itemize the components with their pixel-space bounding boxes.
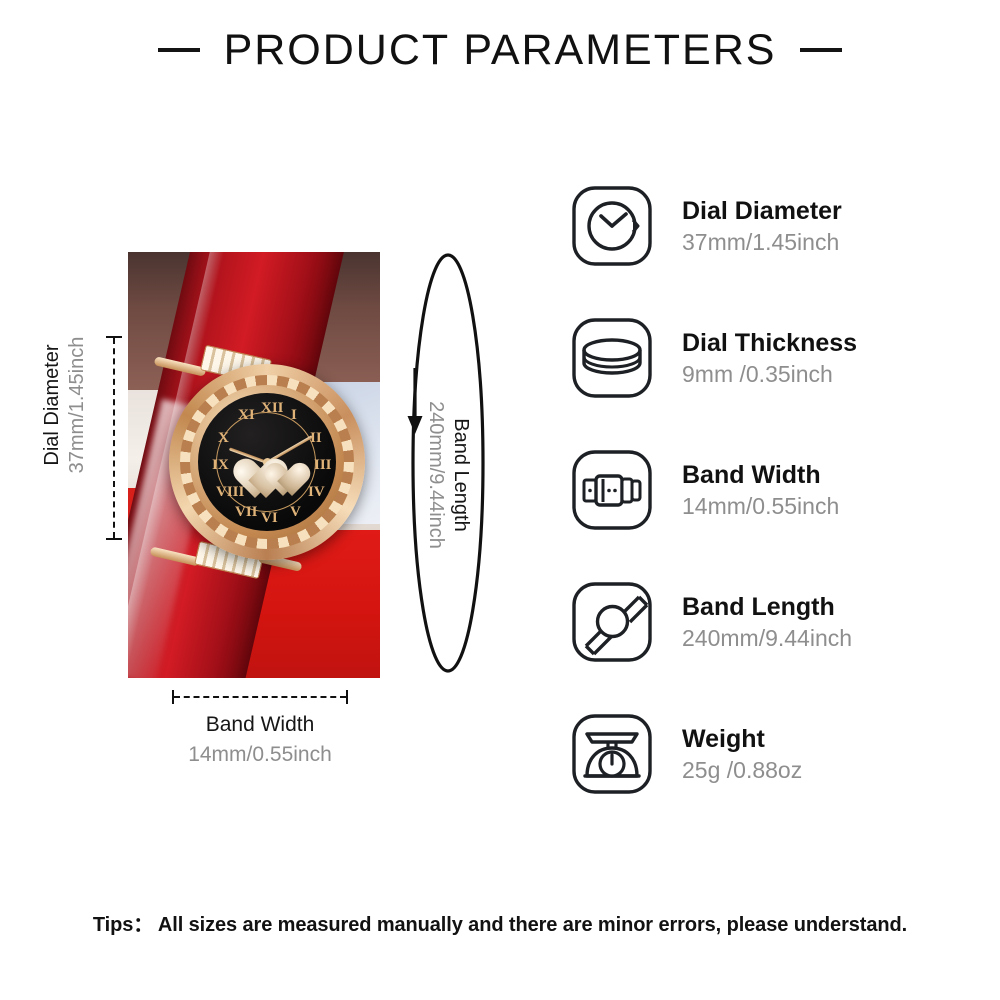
watch-strap-icon — [568, 578, 656, 666]
header-left-dash-icon — [158, 48, 200, 52]
band-length-value: 240mm/9.44inch — [423, 360, 448, 590]
dial-heart-small — [274, 464, 312, 498]
roman-numeral-viii: VIII — [216, 484, 244, 501]
spec-row-band-width: Band Width 14mm/0.55inch — [568, 446, 988, 534]
product-parameters-page: PRODUCT PARAMETERS Dial Diameter 37mm/1.… — [0, 0, 1000, 1000]
roman-numeral-ix: IX — [212, 457, 229, 474]
spec-row-weight: Weight 25g /0.88oz — [568, 710, 988, 798]
roman-numeral-vi: VI — [261, 510, 278, 527]
spec-value: 9mm /0.35inch — [682, 359, 857, 390]
spec-value: 37mm/1.45inch — [682, 227, 842, 258]
spec-text-dial-diameter: Dial Diameter 37mm/1.45inch — [682, 195, 842, 258]
measure-dashed-line-horizontal — [174, 696, 346, 698]
measure-dashed-line — [113, 338, 115, 538]
band-width-label: Band Width — [110, 710, 410, 740]
roman-numeral-iii: III — [314, 457, 332, 474]
roman-numeral-vii: VII — [235, 504, 258, 521]
header-right-dash-icon — [800, 48, 842, 52]
measure-cap-bottom — [106, 538, 122, 540]
dial-diameter-value: 37mm/1.45inch — [65, 300, 90, 510]
spec-text-weight: Weight 25g /0.88oz — [682, 723, 802, 786]
spec-text-dial-thickness: Dial Thickness 9mm /0.35inch — [682, 327, 857, 390]
band-width-measure-line — [172, 690, 348, 704]
spec-row-band-length: Band Length 240mm/9.44inch — [568, 578, 988, 666]
watch-product-photo: XII I II III IV V VI VII VIII IX X XI — [128, 252, 380, 678]
spec-label: Dial Thickness — [682, 327, 857, 359]
dial-diameter-label: Dial Diameter — [40, 300, 65, 510]
cylinder-icon — [568, 314, 656, 402]
roman-numeral-v: V — [290, 504, 301, 521]
dial-diameter-measure-line — [106, 336, 122, 540]
measurement-diagram: Dial Diameter 37mm/1.45inch — [0, 150, 540, 790]
spec-row-dial-thickness: Dial Thickness 9mm /0.35inch — [568, 314, 988, 402]
measure-cap-right — [346, 690, 348, 704]
spec-label: Dial Diameter — [682, 195, 842, 227]
spec-value: 240mm/9.44inch — [682, 623, 852, 654]
spec-text-band-length: Band Length 240mm/9.44inch — [682, 591, 852, 654]
spec-label: Weight — [682, 723, 802, 755]
scale-icon — [568, 710, 656, 798]
spec-value: 25g /0.88oz — [682, 755, 802, 786]
page-title: PRODUCT PARAMETERS — [224, 26, 777, 75]
roman-numeral-xii: XII — [261, 400, 284, 417]
band-length-label-group: Band Length 240mm/9.44inch — [423, 360, 473, 590]
clock-icon — [568, 182, 656, 270]
band-length-arrow-head — [408, 416, 423, 434]
spec-label: Band Length — [682, 591, 852, 623]
footer-tips: Tips： All sizes are measured manually an… — [0, 908, 1000, 937]
roman-numeral-x: X — [218, 430, 229, 447]
band-length-label: Band Length — [448, 360, 473, 590]
spec-value: 14mm/0.55inch — [682, 491, 839, 522]
roman-numeral-i: I — [291, 407, 297, 424]
page-header: PRODUCT PARAMETERS — [0, 18, 1000, 82]
roman-numeral-xi: XI — [238, 407, 255, 424]
band-width-value: 14mm/0.55inch — [110, 740, 410, 770]
spec-text-band-width: Band Width 14mm/0.55inch — [682, 459, 839, 522]
roman-numeral-ii: II — [310, 430, 322, 447]
spec-list: Dial Diameter 37mm/1.45inch Dial Thickne… — [568, 182, 988, 798]
watch-band-icon — [568, 446, 656, 534]
spec-label: Band Width — [682, 459, 839, 491]
spec-row-dial-diameter: Dial Diameter 37mm/1.45inch — [568, 182, 988, 270]
band-width-label-group: Band Width 14mm/0.55inch — [110, 710, 410, 770]
dial-diameter-label-group: Dial Diameter 37mm/1.45inch — [40, 300, 90, 510]
